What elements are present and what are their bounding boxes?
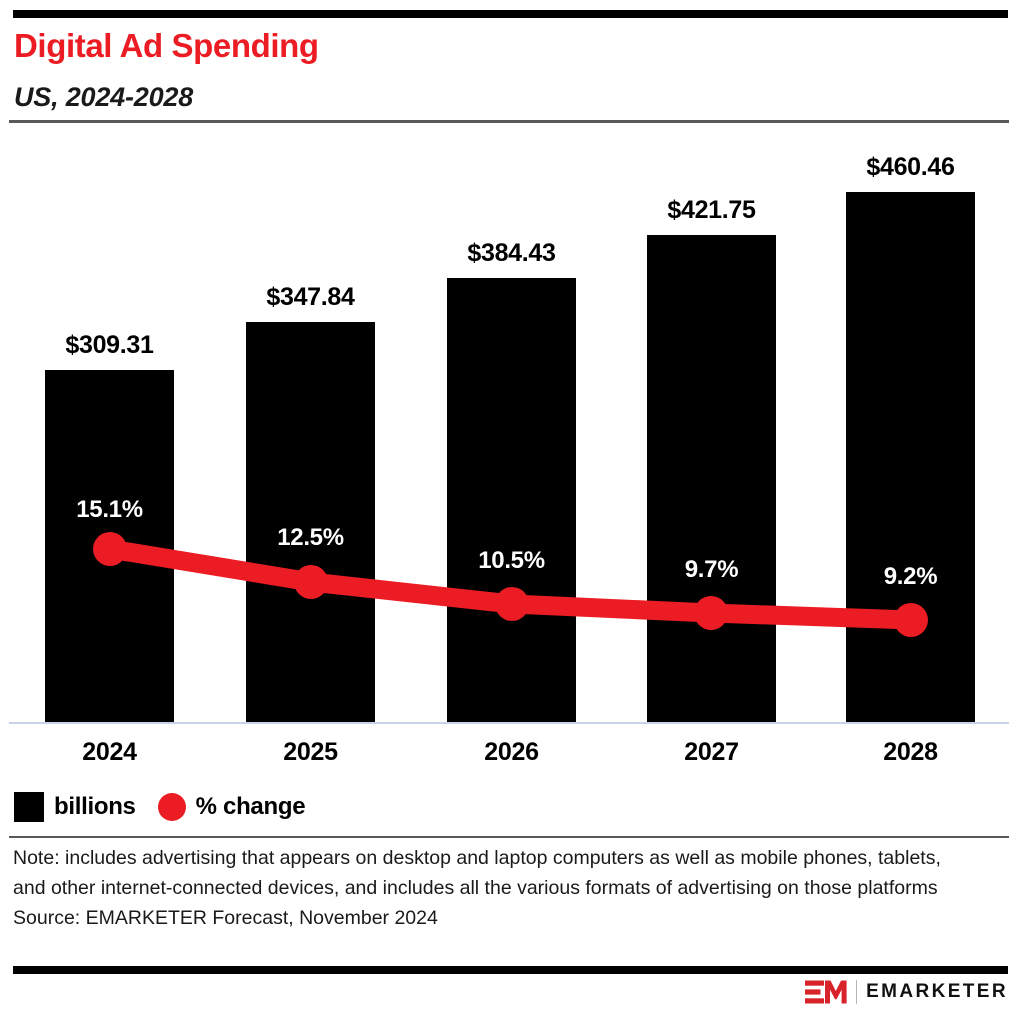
- brand-divider: [856, 980, 857, 1004]
- pct-label-2024: 15.1%: [45, 496, 174, 524]
- pct-label-2026: 10.5%: [447, 547, 576, 575]
- brand-wordmark: EMARKETER: [866, 981, 1008, 1003]
- pct-label-2028: 9.2%: [846, 563, 975, 591]
- bar-2028: [846, 192, 975, 722]
- x-tick-2024: 2024: [45, 738, 174, 767]
- source-text: Source: EMARKETER Forecast, November 202…: [13, 903, 988, 933]
- x-tick-2027: 2027: [647, 738, 776, 767]
- square-swatch-icon: [14, 792, 44, 822]
- chart-legend: billions % change: [14, 792, 305, 822]
- brand-lockup: EMARKETER: [805, 979, 1008, 1005]
- legend-label-billions: billions: [54, 793, 136, 821]
- note-text: Note: includes advertising that appears …: [13, 843, 963, 903]
- legend-item-percent-change: % change: [158, 793, 306, 821]
- bar-2026: [447, 278, 576, 722]
- footer-rule: [13, 966, 1008, 974]
- bar-value-label-2025: $347.84: [246, 283, 375, 312]
- x-tick-2026: 2026: [447, 738, 576, 767]
- x-tick-2028: 2028: [846, 738, 975, 767]
- circle-swatch-icon: [158, 793, 186, 821]
- legend-label-percent-change: % change: [196, 793, 306, 821]
- bar-value-label-2027: $421.75: [647, 196, 776, 225]
- em-logo-icon: [805, 979, 847, 1005]
- bar-value-label-2024: $309.31: [45, 331, 174, 360]
- chart-page: Digital Ad Spending US, 2024-2028 $309.3…: [0, 0, 1020, 1016]
- footnotes: Note: includes advertising that appears …: [13, 843, 988, 933]
- bar-value-label-2026: $384.43: [447, 239, 576, 268]
- bar-2027: [647, 235, 776, 722]
- pct-label-2027: 9.7%: [647, 556, 776, 584]
- bar-value-label-2028: $460.46: [846, 153, 975, 182]
- x-tick-2025: 2025: [246, 738, 375, 767]
- bar-2024: [45, 370, 174, 722]
- x-axis-baseline: [9, 722, 1009, 724]
- footnote-divider: [9, 836, 1009, 838]
- pct-label-2025: 12.5%: [246, 524, 375, 552]
- legend-item-billions: billions: [14, 792, 136, 822]
- bar-2025: [246, 322, 375, 722]
